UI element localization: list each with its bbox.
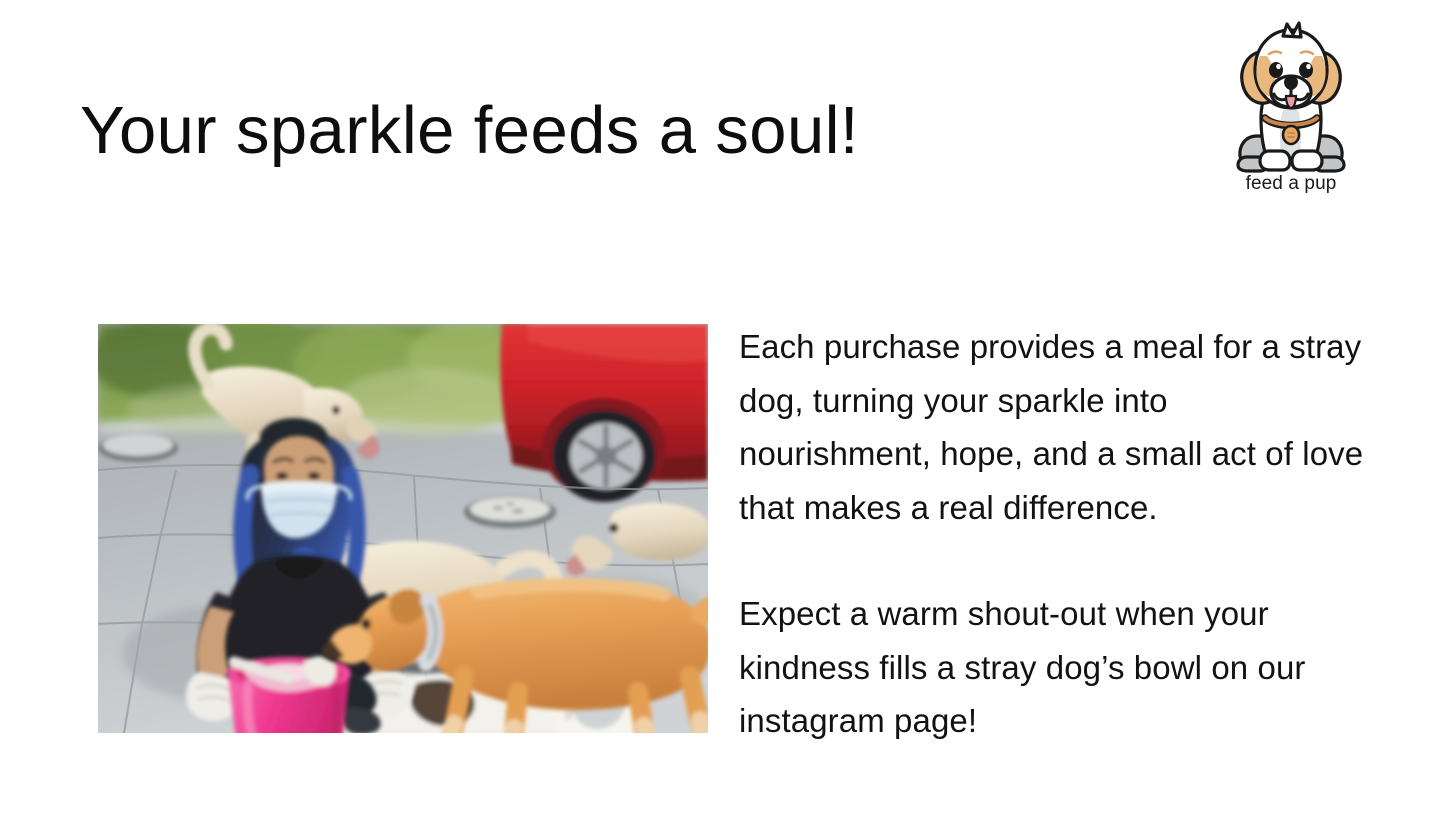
slide-canvas: Your sparkle feeds a soul! [0,0,1445,813]
logo-wordmark: feed a pup [1227,173,1355,195]
body-paragraph-1: Each purchase provides a meal for a stra… [739,320,1364,534]
puppy-logo-icon [1227,18,1355,176]
feeding-photo [98,324,708,733]
brand-logo[interactable]: feed a pup [1227,18,1355,195]
photo-illustration [98,324,708,733]
body-copy: Each purchase provides a meal for a stra… [739,320,1364,748]
paragraph-spacer [739,534,1364,587]
body-paragraph-2: Expect a warm shout-out when your kindne… [739,587,1364,748]
page-title: Your sparkle feeds a soul! [80,97,859,164]
